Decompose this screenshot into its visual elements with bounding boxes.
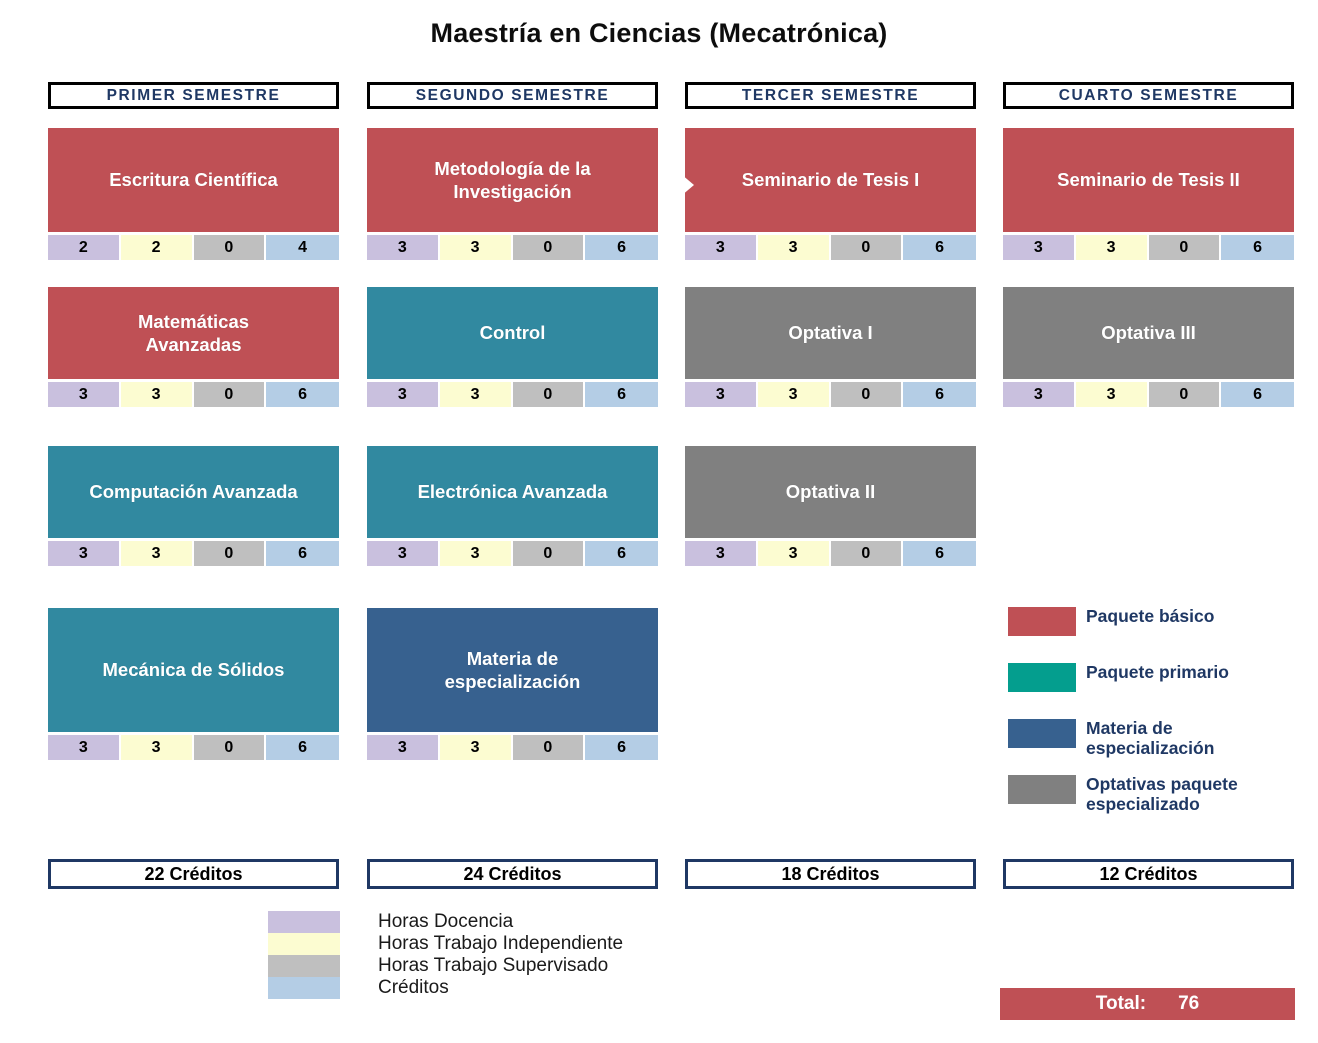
course-card[interactable]: Computación Avanzada3306 xyxy=(48,446,339,566)
semester-credits-box-3: 18 Créditos xyxy=(685,859,976,889)
course-hours-strip: 3306 xyxy=(367,382,658,407)
teaching-hours: 3 xyxy=(1003,235,1076,260)
course-card-body: Matemáticas Avanzadas xyxy=(48,287,339,379)
supervised-hours: 0 xyxy=(513,541,586,566)
semester-header-label: CUARTO SEMESTRE xyxy=(1059,87,1239,105)
teaching-hours: 3 xyxy=(685,541,758,566)
total-label: Total: xyxy=(1096,993,1146,1015)
hours-legend-item: Horas Docencia xyxy=(268,911,623,933)
teaching-hours: 3 xyxy=(367,382,440,407)
course-name: Control xyxy=(480,321,546,344)
package-legend-swatch xyxy=(1008,775,1076,804)
course-hours-strip: 3306 xyxy=(685,235,976,260)
independent-hours: 3 xyxy=(1076,235,1149,260)
supervised-hours: 0 xyxy=(1149,382,1222,407)
credits-value: 6 xyxy=(585,735,658,760)
semester-header-4: CUARTO SEMESTRE xyxy=(1003,82,1294,109)
teaching-hours: 3 xyxy=(48,382,121,407)
hours-legend-item: Horas Trabajo Independiente xyxy=(268,933,623,955)
teaching-hours: 3 xyxy=(367,235,440,260)
course-name: Optativa II xyxy=(786,480,875,503)
supervised-hours: 0 xyxy=(831,382,904,407)
semester-header-label: SEGUNDO SEMESTRE xyxy=(416,87,610,105)
supervised-hours: 0 xyxy=(513,735,586,760)
independent-hours: 3 xyxy=(758,541,831,566)
hours-legend: Horas DocenciaHoras Trabajo Independient… xyxy=(268,911,623,999)
course-hours-strip: 3306 xyxy=(1003,382,1294,407)
semester-header-2: SEGUNDO SEMESTRE xyxy=(367,82,658,109)
course-card-body: Escritura Científica xyxy=(48,128,339,232)
credits-value: 6 xyxy=(585,382,658,407)
course-card[interactable]: Seminario de Tesis II3306 xyxy=(1003,128,1294,260)
hours-legend-label: Horas Trabajo Independiente xyxy=(378,933,623,955)
course-card-body: Materia de especialización xyxy=(367,608,658,732)
independent-hours: 3 xyxy=(1076,382,1149,407)
curriculum-diagram: Maestría en Ciencias (Mecatrónica) PRIME… xyxy=(0,0,1318,1043)
course-card-body: Seminario de Tesis II xyxy=(1003,128,1294,232)
hours-legend-label: Horas Trabajo Supervisado xyxy=(378,955,608,977)
package-legend-label: Paquete básico xyxy=(1086,607,1214,627)
course-name: Matemáticas Avanzadas xyxy=(138,310,249,356)
course-card-body: Computación Avanzada xyxy=(48,446,339,538)
total-credits-badge: Total: 76 xyxy=(1000,988,1295,1020)
semester-header-3: TERCER SEMESTRE xyxy=(685,82,976,109)
teaching-hours: 3 xyxy=(1003,382,1076,407)
package-legend-label: Materia de especialización xyxy=(1086,719,1214,758)
course-name: Escritura Científica xyxy=(109,168,278,191)
course-card[interactable]: Mecánica de Sólidos3306 xyxy=(48,608,339,760)
independent-hours: 3 xyxy=(121,382,194,407)
credits-value: 6 xyxy=(266,735,339,760)
supervised-hours: 0 xyxy=(513,382,586,407)
credits-value: 6 xyxy=(1221,382,1294,407)
credits-value: 6 xyxy=(1221,235,1294,260)
hours-legend-swatch xyxy=(268,911,340,933)
course-card-body: Control xyxy=(367,287,658,379)
independent-hours: 3 xyxy=(440,235,513,260)
credits-value: 4 xyxy=(266,235,339,260)
teaching-hours: 3 xyxy=(685,235,758,260)
independent-hours: 2 xyxy=(121,235,194,260)
course-hours-strip: 3306 xyxy=(367,735,658,760)
package-legend-item: Materia de especialización xyxy=(1008,719,1214,758)
total-value: 76 xyxy=(1178,993,1199,1015)
independent-hours: 3 xyxy=(758,235,831,260)
independent-hours: 3 xyxy=(121,735,194,760)
independent-hours: 3 xyxy=(440,382,513,407)
course-hours-strip: 3306 xyxy=(48,735,339,760)
course-hours-strip: 3306 xyxy=(685,382,976,407)
course-name: Metodología de la Investigación xyxy=(434,157,590,203)
package-legend-swatch xyxy=(1008,607,1076,636)
hours-legend-swatch xyxy=(268,977,340,999)
semester-credits-box-2: 24 Créditos xyxy=(367,859,658,889)
course-name: Seminario de Tesis II xyxy=(1057,168,1240,191)
package-legend-item: Optativas paquete especializado xyxy=(1008,775,1238,814)
semester-header-label: PRIMER SEMESTRE xyxy=(107,87,281,105)
supervised-hours: 0 xyxy=(831,541,904,566)
course-hours-strip: 3306 xyxy=(367,235,658,260)
course-name: Electrónica Avanzada xyxy=(418,480,608,503)
hours-legend-item: Créditos xyxy=(268,977,623,999)
course-hours-strip: 3306 xyxy=(48,541,339,566)
arrow-head xyxy=(681,174,694,196)
course-card[interactable]: Materia de especialización3306 xyxy=(367,608,658,760)
supervised-hours: 0 xyxy=(831,235,904,260)
teaching-hours: 2 xyxy=(48,235,121,260)
teaching-hours: 3 xyxy=(367,541,440,566)
hours-legend-swatch xyxy=(268,955,340,977)
semester-credits-label: 22 Créditos xyxy=(144,864,242,885)
supervised-hours: 0 xyxy=(513,235,586,260)
credits-value: 6 xyxy=(585,235,658,260)
independent-hours: 3 xyxy=(758,382,831,407)
course-name: Optativa III xyxy=(1101,321,1196,344)
supervised-hours: 0 xyxy=(194,735,267,760)
teaching-hours: 3 xyxy=(367,735,440,760)
package-legend-label: Paquete primario xyxy=(1086,663,1229,683)
course-card[interactable]: Matemáticas Avanzadas3306 xyxy=(48,287,339,407)
course-hours-strip: 2204 xyxy=(48,235,339,260)
course-hours-strip: 3306 xyxy=(48,382,339,407)
hours-legend-item: Horas Trabajo Supervisado xyxy=(268,955,623,977)
credits-value: 6 xyxy=(266,382,339,407)
supervised-hours: 0 xyxy=(1149,235,1222,260)
independent-hours: 3 xyxy=(440,735,513,760)
package-legend-item: Paquete primario xyxy=(1008,663,1229,692)
credits-value: 6 xyxy=(266,541,339,566)
package-legend-swatch xyxy=(1008,719,1076,748)
semester-credits-label: 18 Créditos xyxy=(781,864,879,885)
hours-legend-label: Horas Docencia xyxy=(378,911,513,933)
credits-value: 6 xyxy=(903,541,976,566)
semester-header-label: TERCER SEMESTRE xyxy=(742,87,919,105)
teaching-hours: 3 xyxy=(48,541,121,566)
independent-hours: 3 xyxy=(121,541,194,566)
course-card[interactable]: Control3306 xyxy=(367,287,658,407)
semester-credits-box-1: 22 Créditos xyxy=(48,859,339,889)
course-card[interactable]: Seminario de Tesis I3306 xyxy=(685,128,976,260)
course-card[interactable]: Optativa I3306 xyxy=(685,287,976,407)
teaching-hours: 3 xyxy=(48,735,121,760)
course-hours-strip: 3306 xyxy=(367,541,658,566)
course-card-body: Optativa III xyxy=(1003,287,1294,379)
course-card-body: Seminario de Tesis I xyxy=(685,128,976,232)
supervised-hours: 0 xyxy=(194,382,267,407)
teaching-hours: 3 xyxy=(685,382,758,407)
package-legend-swatch xyxy=(1008,663,1076,692)
course-name: Mecánica de Sólidos xyxy=(103,658,285,681)
course-card[interactable]: Electrónica Avanzada3306 xyxy=(367,446,658,566)
package-legend-label: Optativas paquete especializado xyxy=(1086,775,1238,814)
course-name: Computación Avanzada xyxy=(89,480,297,503)
credits-value: 6 xyxy=(903,235,976,260)
credits-value: 6 xyxy=(585,541,658,566)
course-card[interactable]: Metodología de la Investigación3306 xyxy=(367,128,658,260)
semester-credits-label: 12 Créditos xyxy=(1099,864,1197,885)
supervised-hours: 0 xyxy=(194,235,267,260)
course-card[interactable]: Optativa III3306 xyxy=(1003,287,1294,407)
course-name: Optativa I xyxy=(788,321,872,344)
course-hours-strip: 3306 xyxy=(685,541,976,566)
course-name: Seminario de Tesis I xyxy=(742,168,920,191)
prerequisite-arrow xyxy=(660,174,694,196)
course-card-body: Optativa I xyxy=(685,287,976,379)
semester-credits-label: 24 Créditos xyxy=(463,864,561,885)
course-card-body: Metodología de la Investigación xyxy=(367,128,658,232)
page-title: Maestría en Ciencias (Mecatrónica) xyxy=(0,18,1318,49)
course-card[interactable]: Optativa II3306 xyxy=(685,446,976,566)
course-card-body: Mecánica de Sólidos xyxy=(48,608,339,732)
course-name: Materia de especialización xyxy=(445,647,581,693)
course-card-body: Optativa II xyxy=(685,446,976,538)
package-legend-item: Paquete básico xyxy=(1008,607,1214,636)
hours-legend-label: Créditos xyxy=(378,977,449,999)
course-card-body: Electrónica Avanzada xyxy=(367,446,658,538)
semester-credits-box-4: 12 Créditos xyxy=(1003,859,1294,889)
course-card[interactable]: Escritura Científica2204 xyxy=(48,128,339,260)
independent-hours: 3 xyxy=(440,541,513,566)
supervised-hours: 0 xyxy=(194,541,267,566)
credits-value: 6 xyxy=(903,382,976,407)
arrow-shaft xyxy=(660,182,682,188)
hours-legend-swatch xyxy=(268,933,340,955)
course-hours-strip: 3306 xyxy=(1003,235,1294,260)
semester-header-1: PRIMER SEMESTRE xyxy=(48,82,339,109)
